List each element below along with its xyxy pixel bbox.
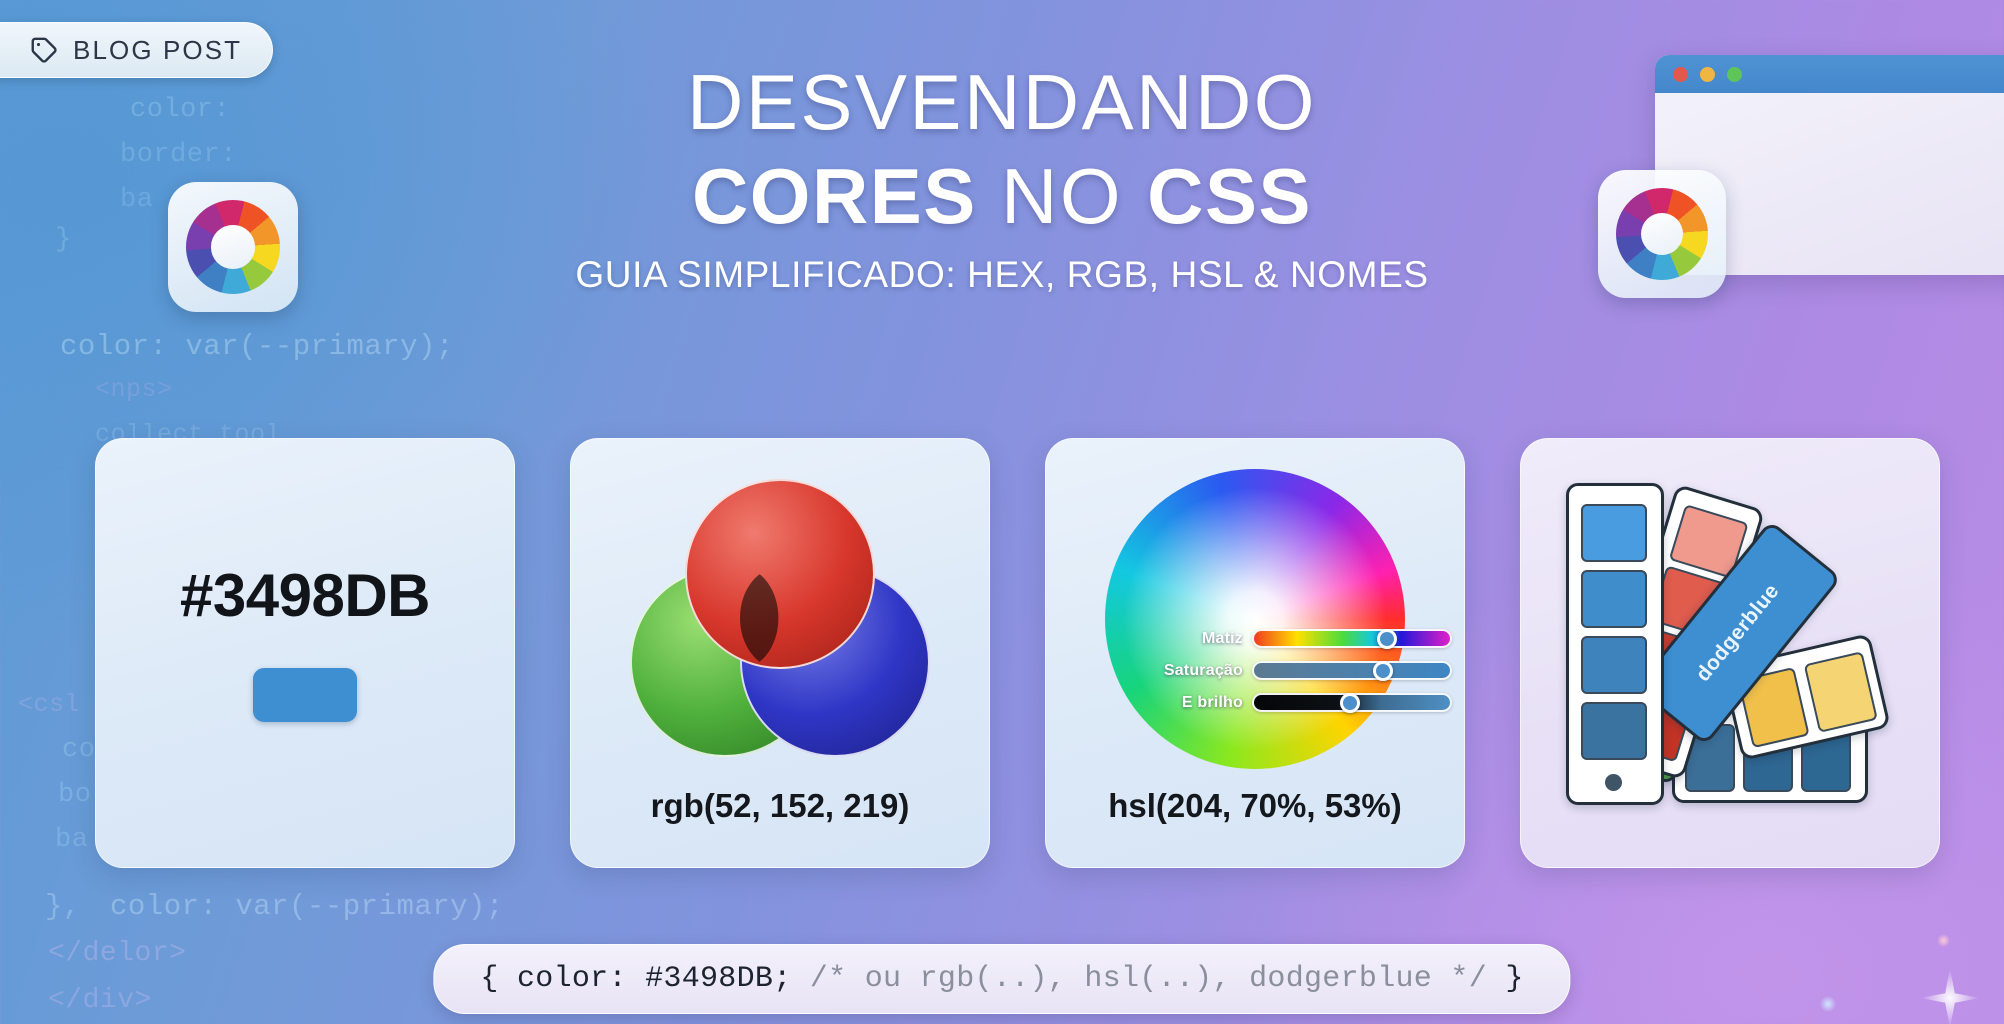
hsl-slider-group: Matiz Saturação E brilho [1157, 629, 1462, 725]
title-css: CSS [1147, 152, 1312, 240]
fan-swatch-yellow-2 [1804, 651, 1878, 733]
background-code-line: ba [55, 825, 88, 855]
pantone-fan-deck: dodgerblue [1560, 477, 1900, 827]
fan-swatch-blue-4 [1581, 702, 1647, 760]
hex-color-swatch[interactable] [253, 668, 357, 722]
code-suffix: } [1487, 962, 1524, 996]
title-cores: CORES [692, 152, 977, 240]
background-code-line: }, [45, 890, 81, 923]
fan-swatch-blue-2 [1581, 570, 1647, 628]
background-code-line: co [62, 735, 95, 765]
background-code-line: </div> [48, 985, 152, 1016]
slider-knob-matiz[interactable] [1377, 629, 1397, 649]
sparkle-dot-pink [1937, 934, 1950, 947]
color-format-card-row: #3498DB rgb(52, 152, 219) Matiz [95, 438, 1940, 868]
slider-row-matiz[interactable]: Matiz [1157, 629, 1462, 648]
red-sphere [685, 479, 875, 669]
code-snippet-pill: { color: #3498DB; /* ou rgb(..), hsl(..)… [433, 944, 1570, 1014]
title-no: NO [1001, 152, 1123, 240]
fan-swatch-blue-3 [1581, 636, 1647, 694]
card-hsl[interactable]: Matiz Saturação E brilho [1045, 438, 1465, 868]
slider-track-saturacao[interactable] [1252, 661, 1452, 680]
card-hex[interactable]: #3498DB [95, 438, 515, 868]
fan-swatch-blue-1 [1581, 504, 1647, 562]
background-code-line: <nps> [95, 375, 173, 404]
page-title: DESVENDANDO CORES NO CSS GUIA SIMPLIFICA… [0, 60, 2004, 296]
background-code-line: color: var(--primary); [110, 890, 504, 923]
hex-value: #3498DB [180, 561, 430, 630]
slider-knob-saturacao[interactable] [1373, 661, 1393, 681]
title-line-2: CORES NO CSS [0, 154, 2004, 238]
code-comment: /* ou rgb(..), hsl(..), dodgerblue */ [810, 962, 1487, 996]
slider-label-brilho: E brilho [1157, 694, 1243, 712]
rgb-label: rgb(52, 152, 219) [571, 787, 989, 825]
hsl-wheel-group: Matiz Saturação E brilho [1105, 469, 1405, 769]
rgb-venn-spheres [630, 479, 930, 759]
fan-pivot-rivet [1605, 774, 1622, 791]
hsl-label: hsl(204, 70%, 53%) [1046, 787, 1464, 825]
slider-track-matiz[interactable] [1252, 629, 1452, 648]
fan-card-blue-strip [1566, 483, 1664, 805]
title-line-1: DESVENDANDO [0, 60, 2004, 144]
slider-row-saturacao[interactable]: Saturação [1157, 661, 1462, 680]
slider-label-matiz: Matiz [1157, 630, 1243, 648]
background-code-line: </delor> [48, 938, 186, 969]
background-code-line: <csl [18, 690, 80, 719]
sparkle-decoration [1920, 968, 1980, 1024]
code-prefix: { color: #3498DB; [480, 962, 809, 996]
card-rgb[interactable]: rgb(52, 152, 219) [570, 438, 990, 868]
slider-track-brilho[interactable] [1252, 693, 1452, 712]
page-subtitle: GUIA SIMPLIFICADO: HEX, RGB, HSL & NOMES [0, 254, 2004, 296]
slider-knob-brilho[interactable] [1340, 693, 1360, 713]
card-named-color[interactable]: dodgerblue [1520, 438, 1940, 868]
slider-row-brilho[interactable]: E brilho [1157, 693, 1462, 712]
background-code-line: color: var(--primary); [60, 330, 454, 363]
background-code-line: bo [58, 780, 91, 810]
slider-label-saturacao: Saturação [1157, 662, 1243, 680]
sparkle-dot-blue [1820, 996, 1836, 1012]
